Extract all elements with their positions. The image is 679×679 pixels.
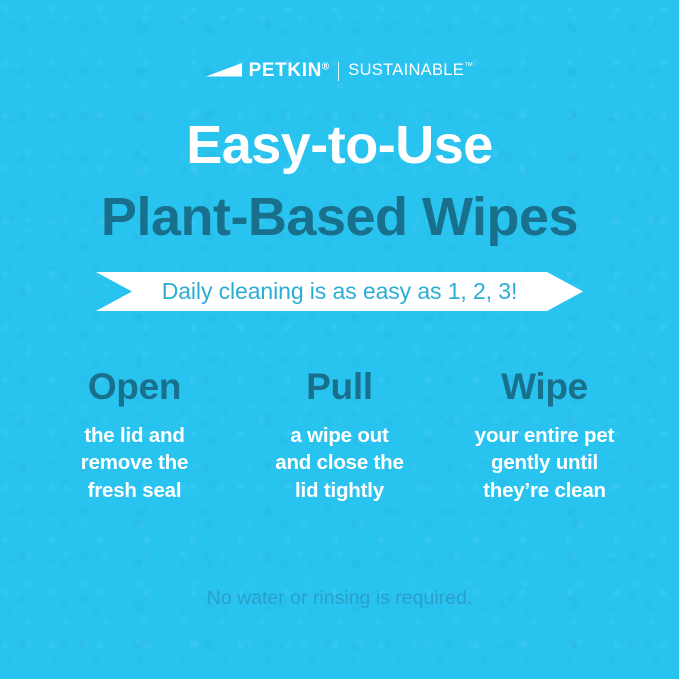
trademark-symbol: ™ xyxy=(464,61,473,71)
brand-name-group: PETKIN® xyxy=(249,61,330,81)
step-body-line: fresh seal xyxy=(32,477,237,504)
ribbon-text: Daily cleaning is as easy as 1, 2, 3! xyxy=(162,280,518,303)
step-title: Wipe xyxy=(442,368,647,405)
step-body-line: lid tightly xyxy=(237,477,442,504)
step-body-line: they’re clean xyxy=(442,477,647,504)
step-body: a wipe out and close the lid tightly xyxy=(237,422,442,504)
registered-trademark-symbol: ® xyxy=(322,62,329,73)
brand-name: PETKIN xyxy=(249,60,322,81)
step-body-line: and close the xyxy=(237,449,442,476)
petkin-wedge-icon xyxy=(206,63,242,79)
step-body: your entire pet gently until they’re cle… xyxy=(442,422,647,504)
paper-texture-overlay xyxy=(0,0,679,679)
step-wipe: Wipe your entire pet gently until they’r… xyxy=(442,368,647,504)
step-body-line: gently until xyxy=(442,449,647,476)
sustainable-label-group: SUSTAINABLE™ xyxy=(348,62,473,81)
step-body-line: your entire pet xyxy=(442,422,647,449)
step-title: Pull xyxy=(237,368,442,405)
step-body-line: a wipe out xyxy=(237,422,442,449)
steps-row: Open the lid and remove the fresh seal P… xyxy=(32,368,647,504)
step-open: Open the lid and remove the fresh seal xyxy=(32,368,237,504)
footer-note: No water or rinsing is required. xyxy=(0,589,679,609)
headline-line-2: Plant-Based Wipes xyxy=(0,190,679,244)
step-body: the lid and remove the fresh seal xyxy=(32,422,237,504)
step-body-line: the lid and xyxy=(32,422,237,449)
brand-divider xyxy=(338,62,339,81)
step-pull: Pull a wipe out and close the lid tightl… xyxy=(237,368,442,504)
sustainable-label: SUSTAINABLE™ xyxy=(348,61,473,79)
sustainable-text: SUSTAINABLE xyxy=(348,61,464,79)
step-title: Open xyxy=(32,368,237,405)
ribbon-banner: Daily cleaning is as easy as 1, 2, 3! xyxy=(96,272,583,311)
brand-header: PETKIN® SUSTAINABLE™ xyxy=(0,58,679,84)
headline-line-1: Easy-to-Use xyxy=(0,118,679,172)
step-body-line: remove the xyxy=(32,449,237,476)
product-infographic: PETKIN® SUSTAINABLE™ Easy-to-Use Plant-B… xyxy=(0,0,679,679)
